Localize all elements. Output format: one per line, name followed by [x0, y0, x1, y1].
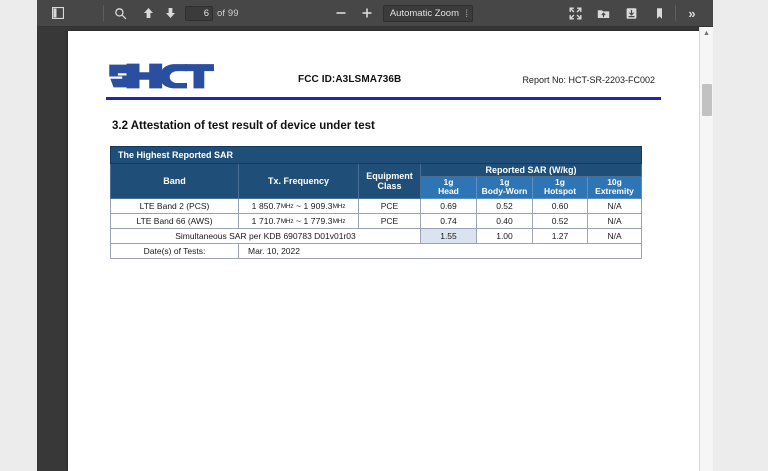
- pdf-viewer-window: of 99 Automatic Zoom: [0, 0, 768, 471]
- next-page-button[interactable]: [159, 3, 181, 23]
- cell-extremity: N/A: [588, 213, 642, 228]
- cell-head: 0.74: [421, 213, 477, 228]
- zoom-controls: Automatic Zoom ⁞: [330, 3, 473, 23]
- previous-page-button[interactable]: [137, 3, 159, 23]
- toolbar-divider-right: [675, 5, 676, 21]
- table-caption-row: The Highest Reported SAR: [111, 146, 642, 163]
- bookmark-icon: [653, 7, 666, 20]
- open-file-icon: [597, 7, 610, 20]
- equipment-class-line2: Class: [377, 181, 401, 191]
- zoom-level-value: Automatic Zoom: [390, 8, 459, 19]
- hotspot-line1: 1g: [555, 177, 565, 187]
- freq-high: 1 779.3: [304, 216, 333, 226]
- bookmark-button[interactable]: [648, 3, 670, 23]
- zoom-in-button[interactable]: [356, 3, 378, 23]
- cell-hotspot: 0.60: [533, 198, 588, 213]
- table-row: LTE Band 66 (AWS) 1 710.7MHz ~ 1 779.3MH…: [111, 213, 642, 228]
- col-header-extremity: 10g Extremity: [588, 176, 642, 198]
- col-header-equipment-class: Equipment Class: [359, 163, 421, 198]
- cell-band: LTE Band 2 (PCS): [111, 198, 239, 213]
- header-divider: [106, 97, 661, 100]
- date-of-tests-label: Date(s) of Tests:: [111, 243, 239, 258]
- date-of-tests-row: Date(s) of Tests: Mar. 10, 2022: [111, 243, 642, 258]
- simultaneous-body-worn: 1.00: [477, 228, 533, 243]
- cell-extremity: N/A: [588, 198, 642, 213]
- freq-low: 1 850.7: [252, 201, 281, 211]
- toolbar-divider: [103, 5, 104, 21]
- pdf-viewer-canvas[interactable]: FCC ID:A3LSMA736B Report No: HCT-SR-2203…: [37, 27, 713, 471]
- head-line2: Head: [438, 186, 459, 196]
- simultaneous-extremity: N/A: [588, 228, 642, 243]
- cell-equipment-class: PCE: [359, 198, 421, 213]
- arrow-up-icon: [143, 7, 154, 19]
- simultaneous-hotspot: 1.27: [533, 228, 588, 243]
- head-line1: 1g: [444, 177, 454, 187]
- section-title: 3.2 Attestation of test result of device…: [112, 120, 661, 132]
- date-of-tests-value: Mar. 10, 2022: [239, 243, 642, 258]
- cell-body-worn: 0.52: [477, 198, 533, 213]
- hotspot-line2: Hotspot: [544, 186, 576, 196]
- cell-band: LTE Band 66 (AWS): [111, 213, 239, 228]
- table-header-row-1: Band Tx. Frequency Equipment Class Repor…: [111, 163, 642, 176]
- simultaneous-sar-label: Simultaneous SAR per KDB 690783 D01v01r0…: [111, 228, 421, 243]
- open-file-button[interactable]: [592, 3, 614, 23]
- find-button[interactable]: [109, 3, 131, 23]
- sidebar-toggle-button[interactable]: [47, 3, 69, 23]
- freq-sep: ~: [296, 216, 301, 226]
- body-line1: 1g: [500, 177, 510, 187]
- report-number-label: Report No: HCT-SR-2203-FC002: [522, 75, 655, 85]
- col-header-head: 1g Head: [421, 176, 477, 198]
- cell-body-worn: 0.40: [477, 213, 533, 228]
- sar-results-table: The Highest Reported SAR Band Tx. Freque…: [110, 146, 642, 259]
- vertical-scrollbar[interactable]: ▲: [699, 27, 713, 471]
- col-header-band: Band: [111, 163, 239, 198]
- cell-equipment-class: PCE: [359, 213, 421, 228]
- simultaneous-head: 1.55: [421, 228, 477, 243]
- arrow-down-icon: [165, 7, 176, 19]
- scrollbar-thumb[interactable]: [702, 84, 712, 116]
- plus-icon: [361, 7, 373, 19]
- pdf-page: FCC ID:A3LSMA736B Report No: HCT-SR-2203…: [68, 31, 699, 471]
- page-number-input[interactable]: [185, 6, 213, 21]
- minus-icon: [335, 7, 347, 19]
- freq-unit-low: MHz: [281, 218, 294, 225]
- zoom-level-select[interactable]: Automatic Zoom ⁞: [383, 5, 473, 22]
- more-tools-button[interactable]: »: [681, 3, 703, 23]
- fullscreen-icon: [569, 7, 582, 20]
- download-icon: [625, 7, 638, 20]
- document-content: FCC ID:A3LSMA736B Report No: HCT-SR-2203…: [68, 31, 699, 471]
- table-row: LTE Band 2 (PCS) 1 850.7MHz ~ 1 909.3MHz…: [111, 198, 642, 213]
- freq-unit-high: MHz: [333, 203, 346, 210]
- freq-unit-high: MHz: [333, 218, 346, 225]
- scroll-up-button[interactable]: ▲: [700, 27, 713, 40]
- freq-high: 1 909.3: [304, 201, 333, 211]
- freq-low: 1 710.7: [252, 216, 281, 226]
- col-header-frequency: Tx. Frequency: [239, 163, 359, 198]
- table-caption: The Highest Reported SAR: [111, 146, 642, 163]
- document-header: FCC ID:A3LSMA736B Report No: HCT-SR-2203…: [106, 31, 661, 93]
- double-chevron-right-icon: »: [688, 7, 695, 20]
- save-button[interactable]: [620, 3, 642, 23]
- page-count-label: of 99: [217, 8, 239, 19]
- col-header-hotspot: 1g Hotspot: [533, 176, 588, 198]
- freq-sep: ~: [296, 201, 301, 211]
- simultaneous-sar-row: Simultaneous SAR per KDB 690783 D01v01r0…: [111, 228, 642, 243]
- hct-logo: [106, 59, 214, 93]
- search-icon: [114, 7, 127, 20]
- body-line2: Body-Worn: [482, 186, 528, 196]
- extremity-line2: Extremity: [595, 186, 634, 196]
- sidebar-icon: [52, 7, 64, 19]
- col-header-body-worn: 1g Body-Worn: [477, 176, 533, 198]
- equipment-class-line1: Equipment: [366, 171, 413, 181]
- col-header-reported-sar: Reported SAR (W/kg): [421, 163, 642, 176]
- presentation-mode-button[interactable]: [564, 3, 586, 23]
- cell-hotspot: 0.52: [533, 213, 588, 228]
- fcc-id-label: FCC ID:A3LSMA736B: [298, 74, 401, 85]
- pdf-toolbar: of 99 Automatic Zoom: [37, 0, 713, 27]
- chevron-down-icon: ⁞: [466, 7, 468, 19]
- extremity-line1: 10g: [607, 177, 622, 187]
- cell-head: 0.69: [421, 198, 477, 213]
- zoom-out-button[interactable]: [330, 3, 352, 23]
- freq-unit-low: MHz: [281, 203, 294, 210]
- cell-frequency: 1 710.7MHz ~ 1 779.3MHz: [239, 213, 359, 228]
- cell-frequency: 1 850.7MHz ~ 1 909.3MHz: [239, 198, 359, 213]
